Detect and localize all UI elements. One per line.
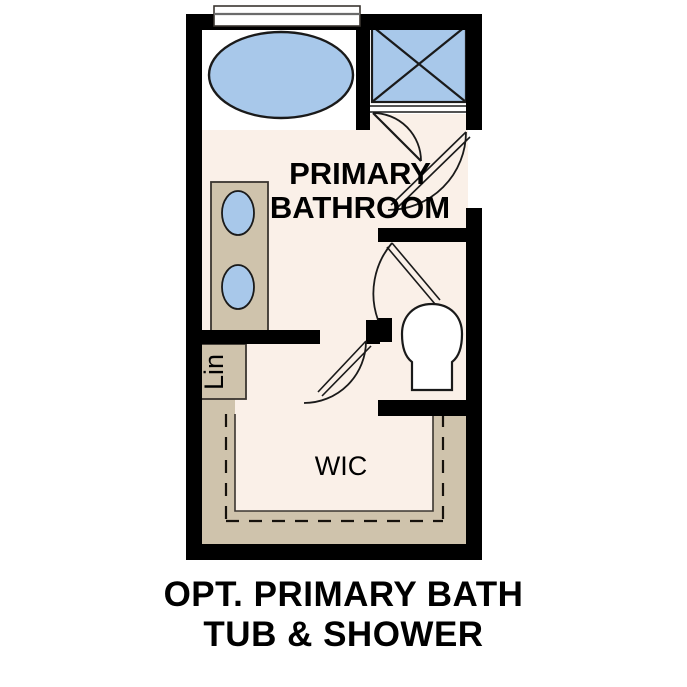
wall-bath-wic-right — [366, 330, 380, 344]
caption-line-1: OPT. PRIMARY BATH — [0, 575, 687, 615]
wic-label: WIC — [315, 451, 367, 481]
primary-bathroom-label-line1: PRIMARY — [289, 156, 431, 191]
plan-caption: OPT. PRIMARY BATH TUB & SHOWER — [0, 575, 687, 655]
double-vanity — [211, 182, 268, 334]
wall-exterior-left — [186, 14, 202, 560]
wic-shelf-bottom — [200, 511, 468, 546]
caption-line-2: TUB & SHOWER — [0, 615, 687, 655]
toilet — [402, 304, 462, 390]
window — [214, 6, 360, 26]
vanity-sink-lower — [222, 265, 254, 309]
window-frame — [214, 6, 360, 26]
primary-bathroom-label-line2: BATHROOM — [270, 190, 450, 225]
wall-wc-left-lower — [378, 318, 392, 342]
soaking-tub — [209, 32, 353, 118]
tub-deck-area — [200, 20, 362, 130]
wall-exterior-right-upper — [466, 14, 482, 130]
toilet-bowl-and-tank — [402, 304, 462, 390]
wall-exterior-right-lower — [466, 420, 482, 560]
linen-label: Lin — [199, 354, 229, 390]
wall-wc-left-upper — [378, 228, 392, 242]
floor-plan-page: PRIMARY BATHROOM WIC Lin OPT. PRIMARY BA… — [0, 0, 687, 687]
wall-tub-shower-divider — [356, 14, 370, 130]
vanity-sink-upper — [222, 191, 254, 235]
wall-wc-bottom — [378, 400, 470, 416]
shower-stall — [366, 18, 470, 114]
wall-exterior-bottom — [186, 544, 482, 560]
wall-bath-wic-left — [186, 330, 320, 344]
